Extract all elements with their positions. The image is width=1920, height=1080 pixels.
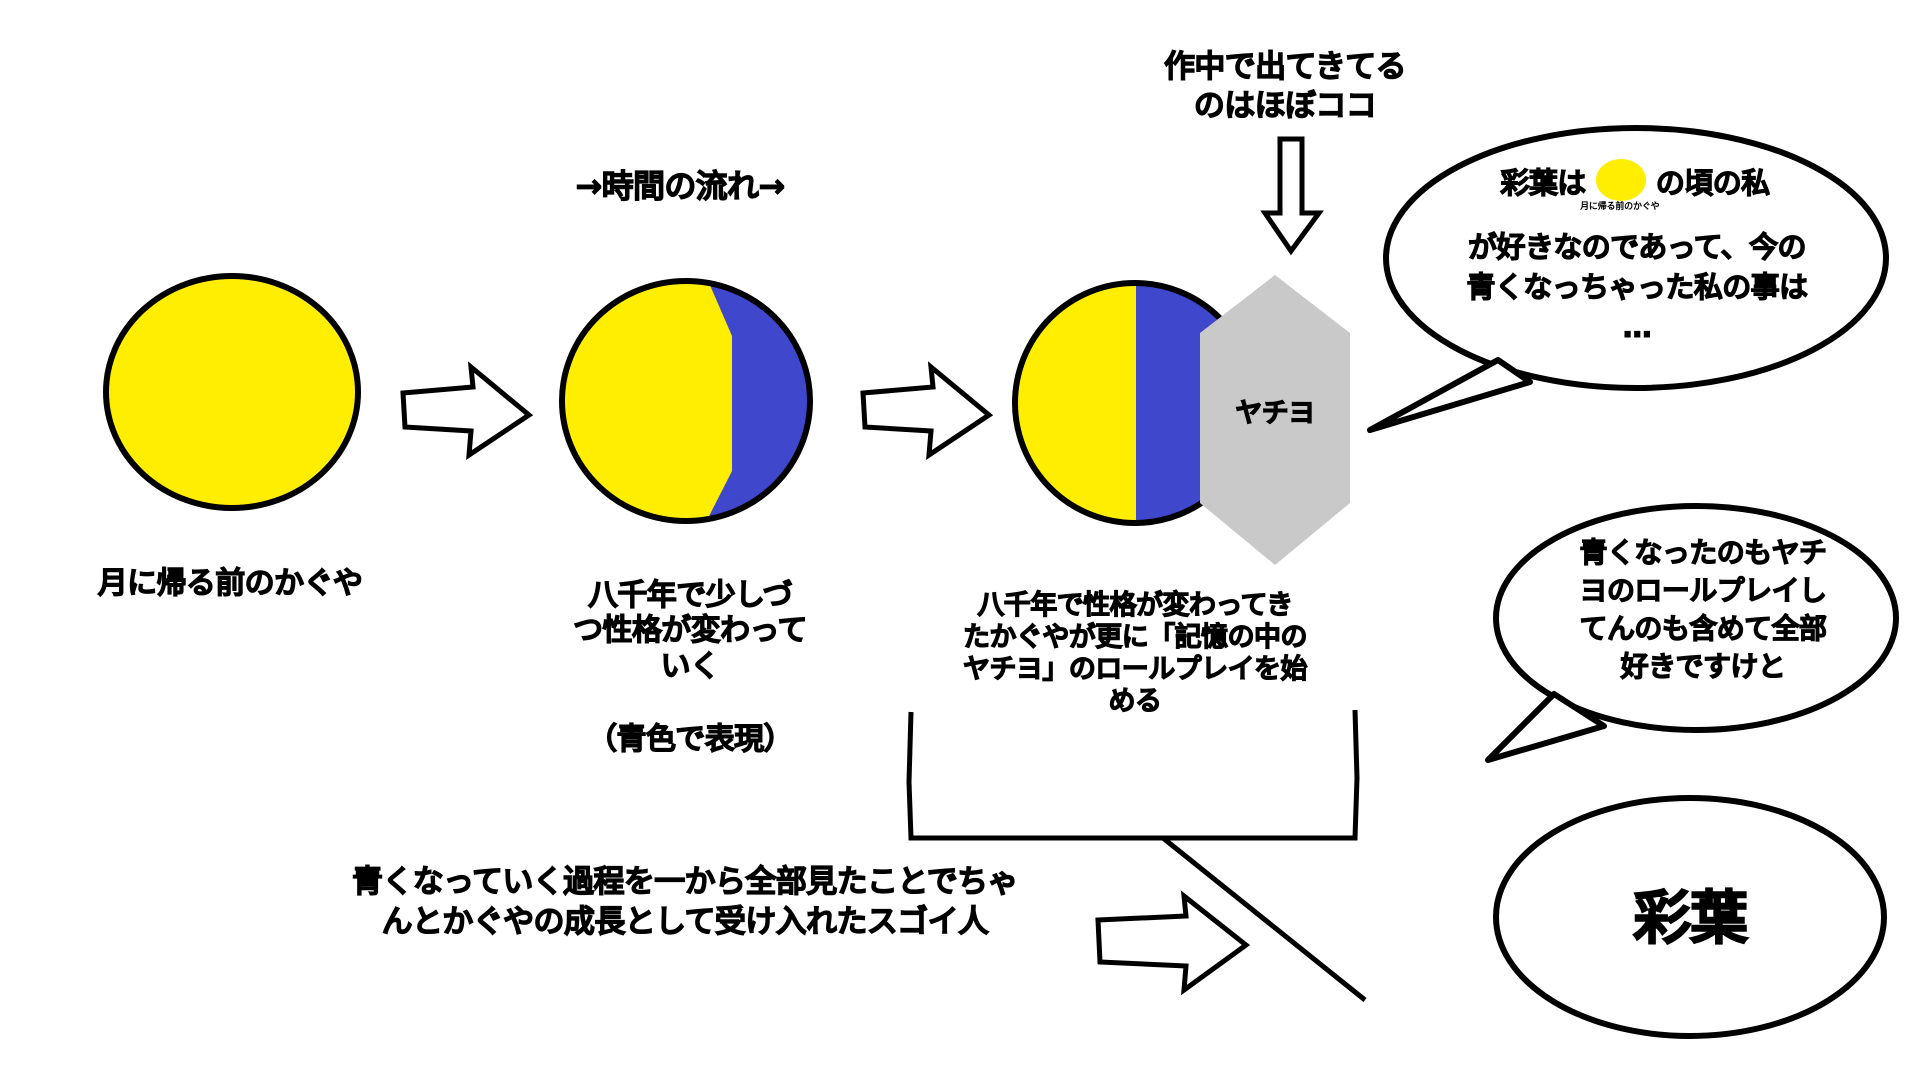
- inline-moon-caption: 月に帰る前のかぐや: [1577, 202, 1663, 213]
- bubble-1-line-3: 青くなっちゃった私の事は: [1392, 268, 1882, 306]
- hexagon-label: ヤチヨ: [1195, 398, 1355, 430]
- bubble-1-text-before: 彩葉は: [1500, 164, 1585, 202]
- right-arrow-icon-1: [395, 355, 535, 465]
- bubble-1-line-4: …: [1392, 308, 1882, 346]
- caption-stage-2: 八千年で少しづ つ性格が変わって いく: [520, 578, 860, 684]
- bubble-1-line-2: が好きなのであって、今の: [1392, 228, 1882, 266]
- diagram-canvas: →時間の流れ→ 月に帰る前のかぐや 八千年で少しづ つ性格が変わって いく: [0, 0, 1920, 1080]
- time-flow-label: →時間の流れ→: [530, 168, 830, 206]
- moon-stage-2: [556, 276, 828, 526]
- character-name: 彩葉: [1490, 884, 1890, 952]
- bubble-2-text: 青くなったのもヤチ ヨのロールプレイし てんのも含めて全部 好きですけと: [1508, 534, 1898, 686]
- bubble-1-line-1: 彩葉は 月に帰る前のかぐや の頃の私: [1400, 158, 1870, 208]
- bottom-note-text: 青くなっていく過程を一から全部見たことでちゃ んとかぐやの成長として受け入れたス…: [260, 862, 1110, 943]
- caption-stage-1: 月に帰る前のかぐや: [40, 566, 420, 601]
- bubble-1-text-after: の頃の私: [1656, 164, 1770, 202]
- right-arrow-icon-3: [1090, 890, 1250, 1000]
- subcaption-stage-2: （青色で表現）: [520, 722, 860, 757]
- moon-stage-1: [100, 272, 364, 512]
- top-note-text: 作中で出てきてる のはほぼココ: [1100, 48, 1470, 126]
- right-arrow-icon-2: [855, 355, 995, 465]
- inline-yellow-moon-icon: 月に帰る前のかぐや: [1591, 158, 1651, 208]
- down-arrow-icon: [1255, 135, 1335, 255]
